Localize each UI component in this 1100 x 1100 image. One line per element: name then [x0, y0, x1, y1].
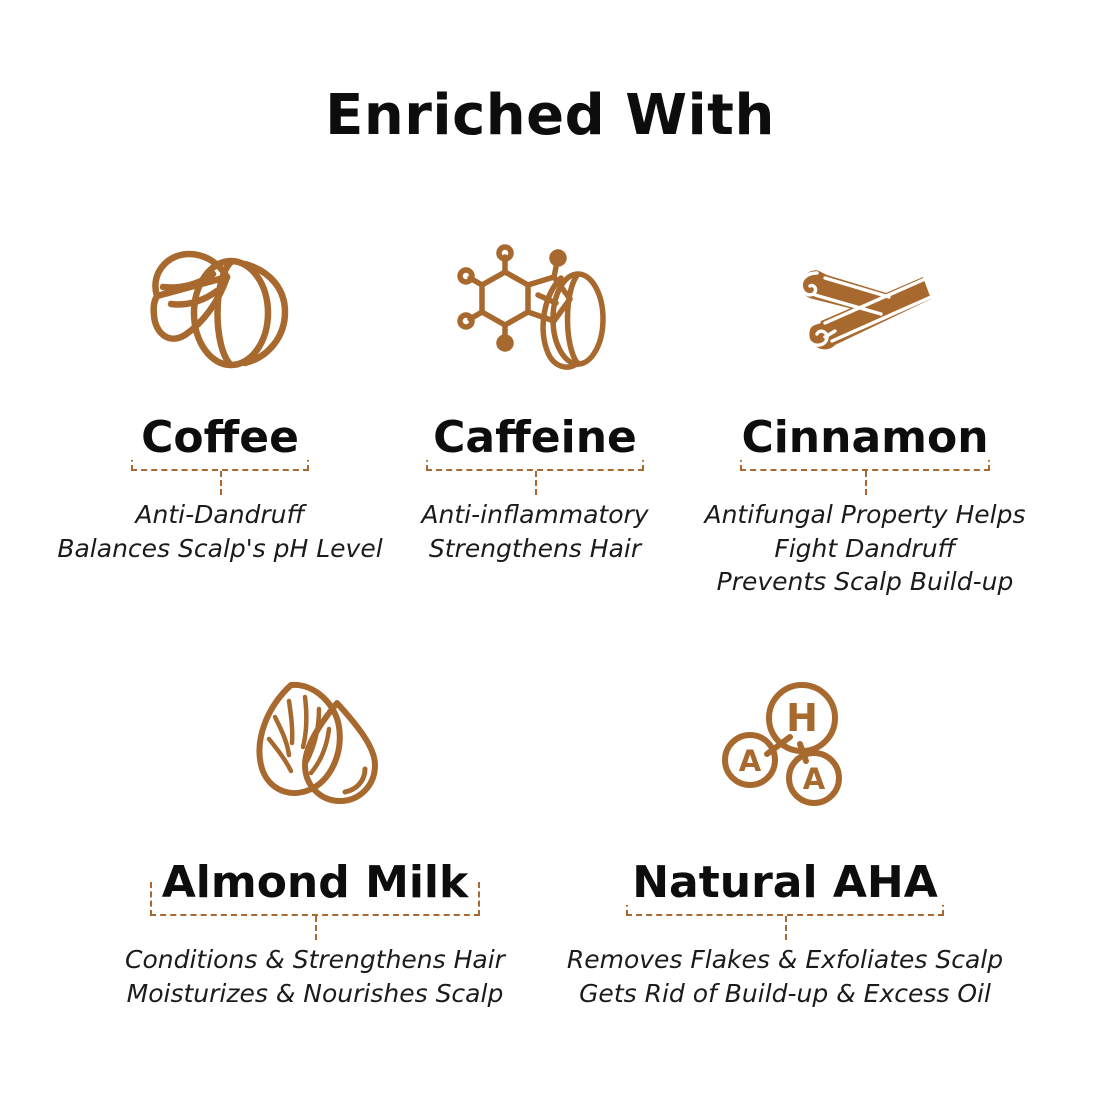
ingredient-card-cinnamon: Cinnamon Antifungal Property Helps Fight… [685, 238, 1045, 599]
coffee-beans-icon [145, 238, 295, 378]
aha-letter-a-left: A [739, 744, 762, 778]
ingredient-card-almond-milk: Almond Milk Conditions & Strengthens Hai… [80, 672, 550, 1010]
page-title: Enriched With [0, 88, 1100, 144]
aha-molecule-icon: H A A [720, 672, 850, 817]
label-dashed-tick [535, 471, 537, 495]
ingredient-card-coffee: Coffee Anti-Dandruff Balances Scalp's pH… [55, 238, 385, 565]
ingredient-label-coffee: Coffee [131, 416, 309, 460]
ingredient-label-cinnamon: Cinnamon [731, 416, 998, 460]
ingredient-row-bottom: Almond Milk Conditions & Strengthens Hai… [0, 672, 1100, 1010]
benefit-line: Anti-Dandruff [57, 498, 382, 532]
label-dashed-tick [315, 916, 317, 940]
ingredient-row-top: Coffee Anti-Dandruff Balances Scalp's pH… [0, 238, 1100, 599]
ingredient-benefits-natural-aha: Removes Flakes & Exfoliates Scalp Gets R… [567, 943, 1003, 1010]
label-block-cinnamon: Cinnamon [731, 416, 998, 460]
benefit-line: Removes Flakes & Exfoliates Scalp [567, 943, 1003, 977]
label-dashed-tick [785, 916, 787, 940]
label-block-coffee: Coffee [131, 416, 309, 460]
benefit-line: Moisturizes & Nourishes Scalp [125, 977, 505, 1011]
aha-letter-h: H [786, 696, 818, 740]
benefit-line: Balances Scalp's pH Level [57, 532, 382, 566]
aha-letter-a-bottom: A [803, 762, 826, 796]
ingredient-label-caffeine: Caffeine [423, 416, 647, 460]
benefit-line: Gets Rid of Build-up & Excess Oil [567, 977, 1003, 1011]
benefit-line: Anti-inflammatory [421, 498, 648, 532]
benefit-line: Strengthens Hair [421, 532, 648, 566]
label-block-natural-aha: Natural AHA [622, 861, 948, 905]
almond-droplet-icon [245, 672, 385, 817]
cinnamon-sticks-icon [785, 238, 945, 378]
ingredient-benefits-coffee: Anti-Dandruff Balances Scalp's pH Level [57, 498, 382, 565]
benefit-line: Prevents Scalp Build-up [704, 565, 1025, 599]
label-block-caffeine: Caffeine [423, 416, 647, 460]
ingredient-benefits-caffeine: Anti-inflammatory Strengthens Hair [421, 498, 648, 565]
ingredient-label-natural-aha: Natural AHA [622, 861, 948, 905]
infographic-page: Enriched With [0, 0, 1100, 1100]
ingredient-benefits-cinnamon: Antifungal Property Helps Fight Dandruff… [704, 498, 1025, 599]
benefit-line: Conditions & Strengthens Hair [125, 943, 505, 977]
benefit-line: Fight Dandruff [704, 532, 1025, 566]
label-block-almond-milk: Almond Milk [152, 861, 479, 905]
caffeine-molecule-bean-icon [460, 238, 610, 378]
ingredient-card-natural-aha: H A A Natural AHA Removes Flakes & Exfol… [550, 672, 1020, 1010]
label-dashed-tick [865, 471, 867, 495]
ingredient-label-almond-milk: Almond Milk [152, 861, 479, 905]
ingredient-benefits-almond-milk: Conditions & Strengthens Hair Moisturize… [125, 943, 505, 1010]
ingredient-card-caffeine: Caffeine Anti-inflammatory Strengthens H… [385, 238, 685, 565]
benefit-line: Antifungal Property Helps [704, 498, 1025, 532]
label-dashed-tick [220, 471, 222, 495]
